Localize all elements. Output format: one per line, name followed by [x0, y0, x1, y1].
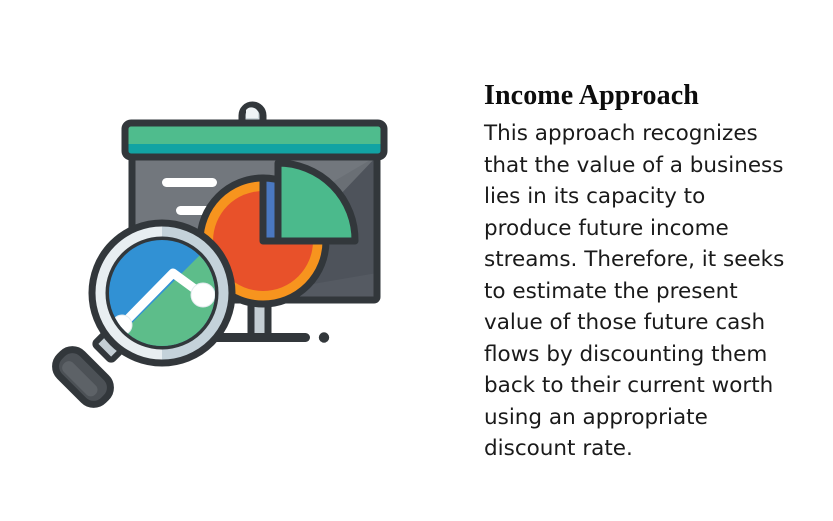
- board-stand-base: [212, 333, 310, 342]
- slide-root: Income Approach This approach recognizes…: [0, 0, 833, 521]
- body-paragraph: This approach recognizes that the value …: [484, 118, 799, 465]
- board-text-line-1: [162, 178, 217, 187]
- page-title: Income Approach: [484, 80, 802, 112]
- board-stand-dot: [319, 332, 329, 342]
- illustration: [40, 88, 440, 413]
- illustration-svg: [40, 88, 440, 413]
- board-header-bar: [125, 105, 384, 157]
- magnifying-glass: [50, 218, 242, 410]
- lens-chart-point-2: [191, 283, 215, 307]
- text-column: Income Approach This approach recognizes…: [484, 80, 802, 465]
